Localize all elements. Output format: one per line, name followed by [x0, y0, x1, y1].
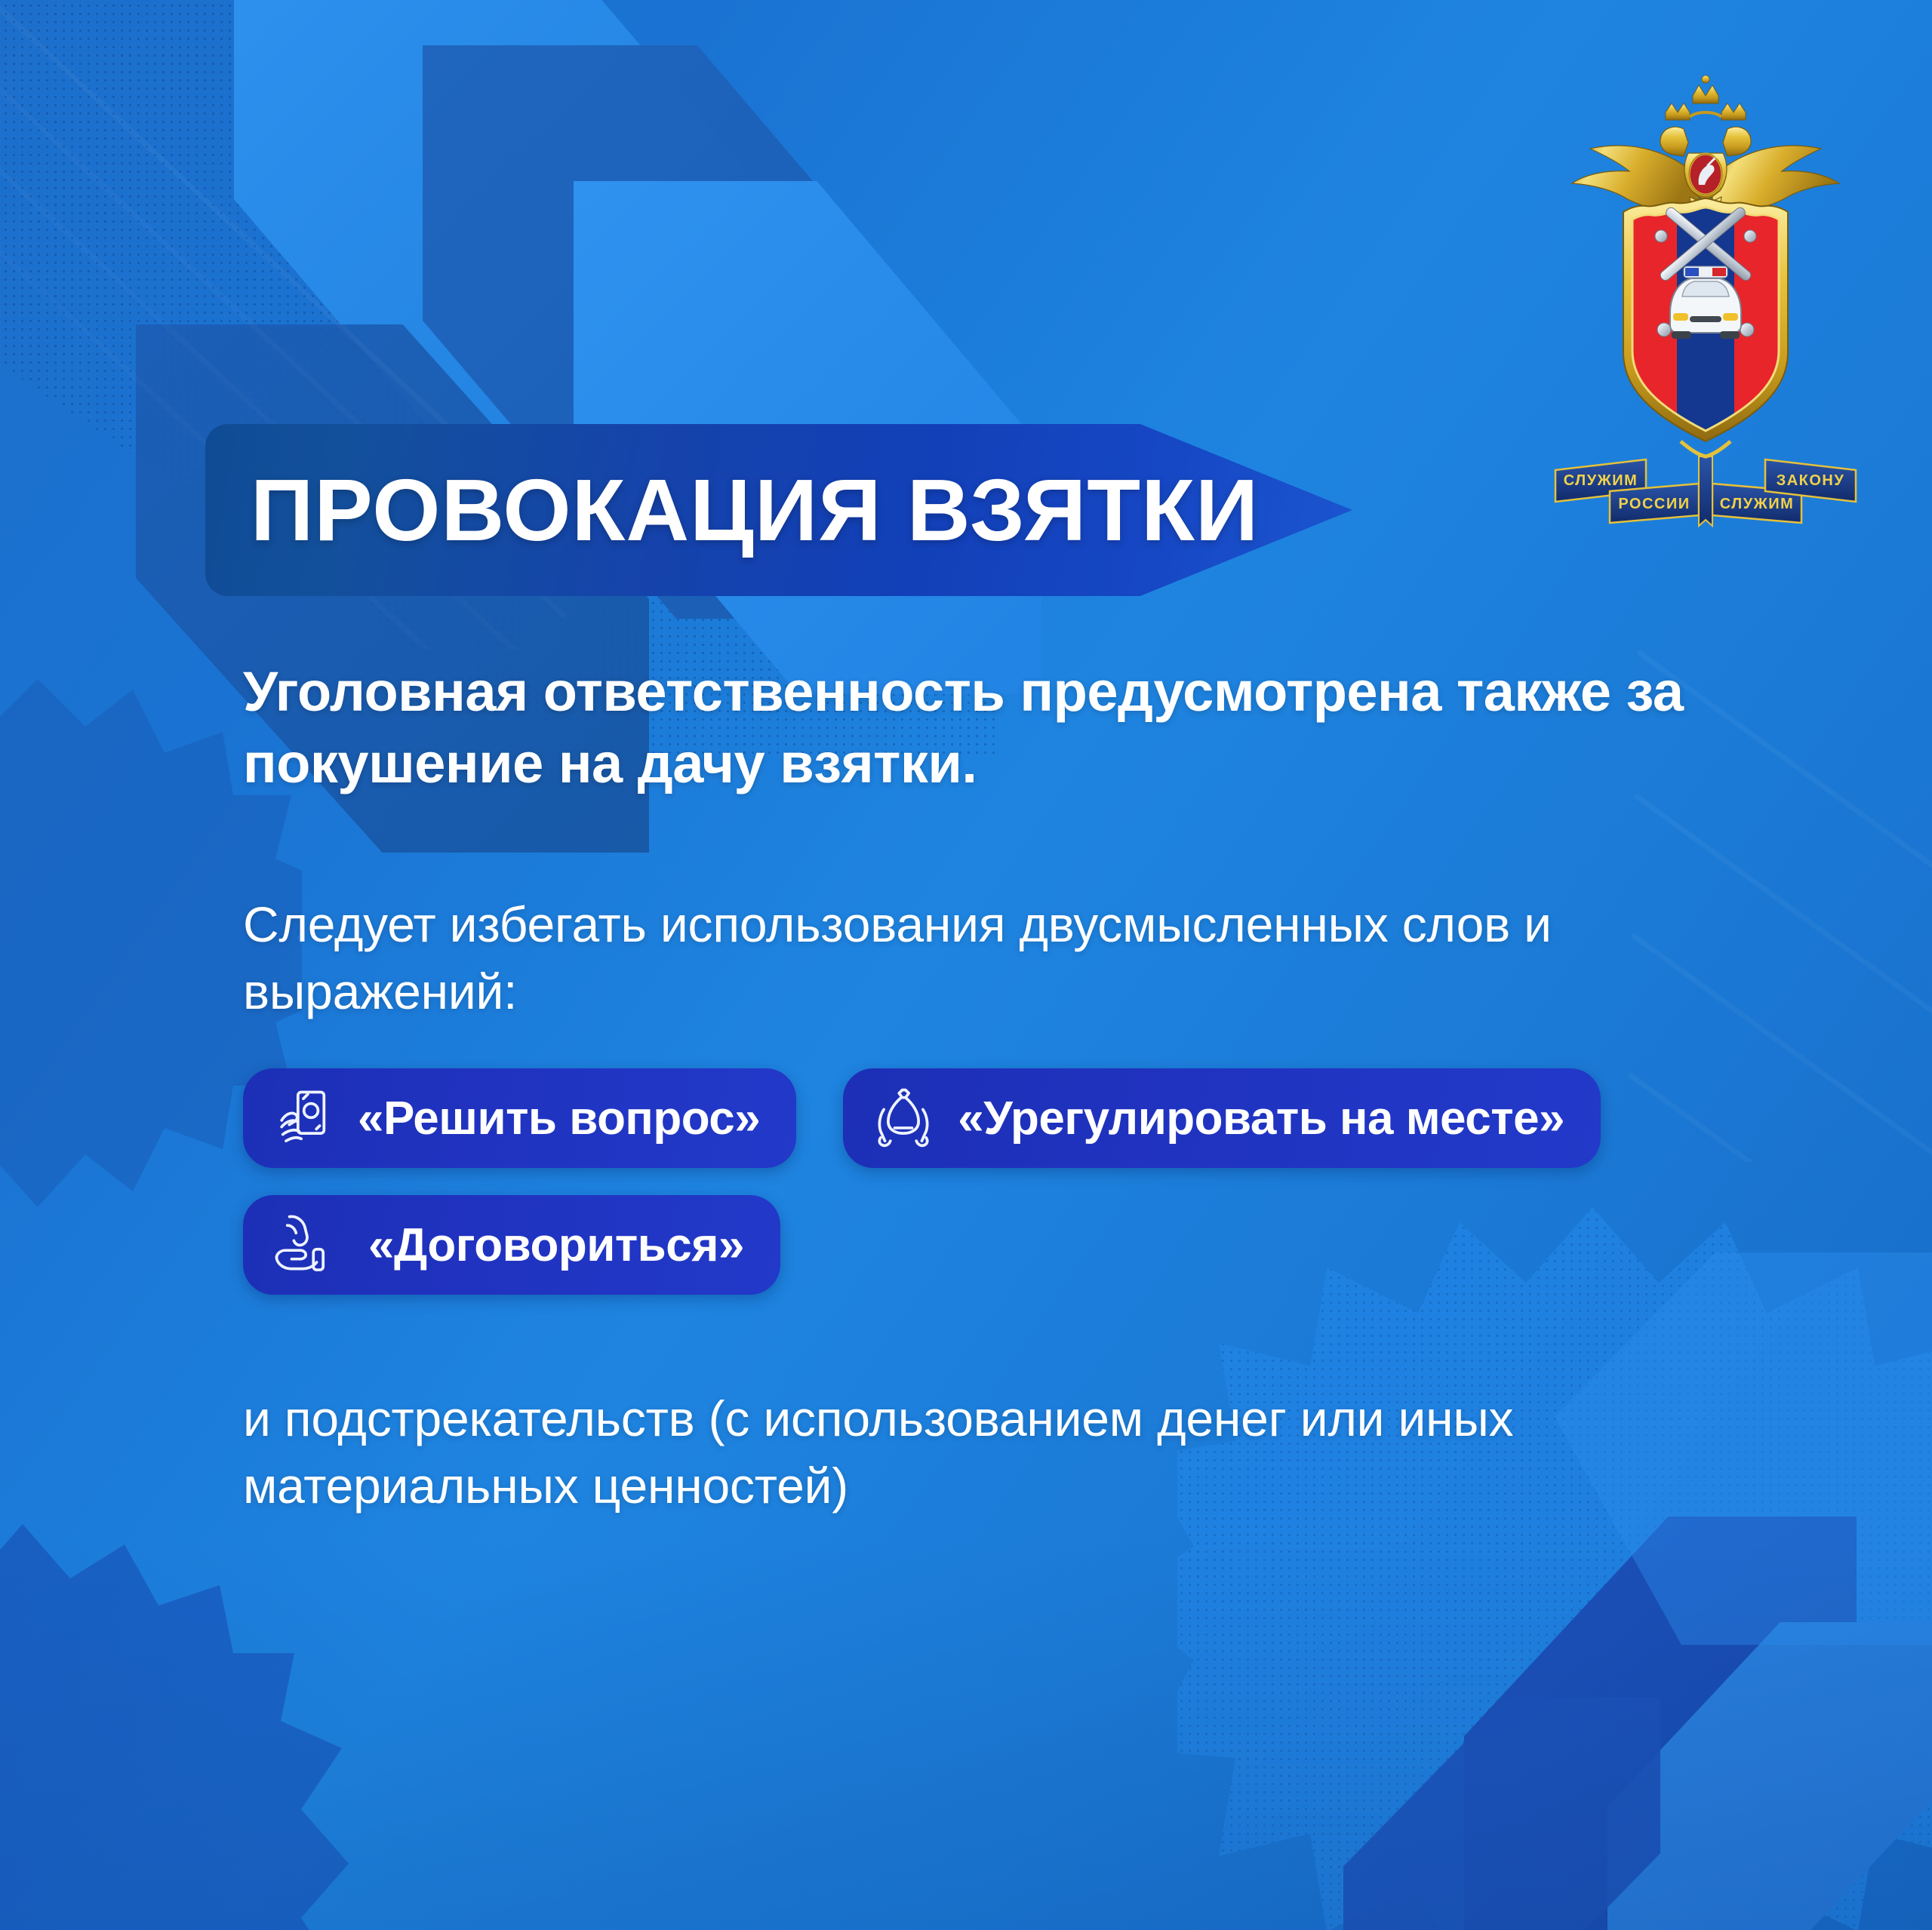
title-banner: ПРОВОКАЦИЯ ВЗЯТКИ: [205, 424, 1352, 596]
chip-label: «Договориться»: [355, 1219, 744, 1272]
ribbon-text-top-right: ЗАКОНУ: [1777, 472, 1845, 489]
hand-holding-banknote-icon: [269, 1083, 338, 1153]
outro-paragraph: и подстрекательств (с использованием ден…: [243, 1385, 1767, 1519]
content-column: Уголовная ответственность предусмотрена …: [243, 656, 1767, 1519]
motto-ribbons: СЛУЖИМ РОССИИ СЛУЖИМ ЗАКОНУ: [1555, 441, 1856, 526]
chip-label: «Урегулировать на месте»: [958, 1092, 1564, 1145]
ribbon-text-bottom-right: СЛУЖИМ: [1720, 496, 1795, 512]
ribbon-text-bottom-left: РОССИИ: [1618, 496, 1690, 512]
shield-icon: [1623, 198, 1788, 441]
chevron-shape-7: [1343, 1698, 1660, 1930]
chevron-shape-5: [1464, 1517, 1857, 1930]
phrase-chip-group: «Решить вопрос» «У: [243, 1068, 1767, 1295]
ribbon-text-top-left: СЛУЖИМ: [1564, 472, 1638, 489]
sawtooth-star-bottom-left: [0, 1524, 362, 1930]
russian-interior-ministry-emblem: СЛУЖИМ РОССИИ СЛУЖИМ ЗАКОНУ: [1551, 64, 1860, 539]
chip-row-2: «Договориться»: [243, 1195, 1767, 1295]
phrase-chip-uregulirovat-na-meste[interactable]: «Урегулировать на месте»: [843, 1068, 1601, 1168]
phrase-chip-reshit-vopros[interactable]: «Решить вопрос»: [243, 1068, 796, 1168]
intro-paragraph: Следует избегать использования двусмысле…: [243, 891, 1767, 1025]
hand-giving-money-to-hand-icon: [266, 1210, 335, 1280]
page-title: ПРОВОКАЦИЯ ВЗЯТКИ: [205, 459, 1259, 561]
phrase-chip-dogovoritsya[interactable]: «Договориться»: [243, 1195, 780, 1295]
hands-holding-money-bag-icon: [869, 1083, 938, 1153]
chip-row-1: «Решить вопрос» «У: [243, 1068, 1767, 1168]
halftone-texture-top-left: [0, 0, 996, 754]
poster-canvas: СЛУЖИМ РОССИИ СЛУЖИМ ЗАКОНУ ПРОВОКАЦИЯ В…: [0, 0, 1932, 1930]
bottom-gradient-band: [0, 1538, 1932, 1930]
chip-label: «Решить вопрос»: [358, 1092, 760, 1145]
chevron-shape-6: [1607, 1622, 1932, 1930]
lede-text: Уголовная ответственность предусмотрена …: [243, 656, 1767, 799]
